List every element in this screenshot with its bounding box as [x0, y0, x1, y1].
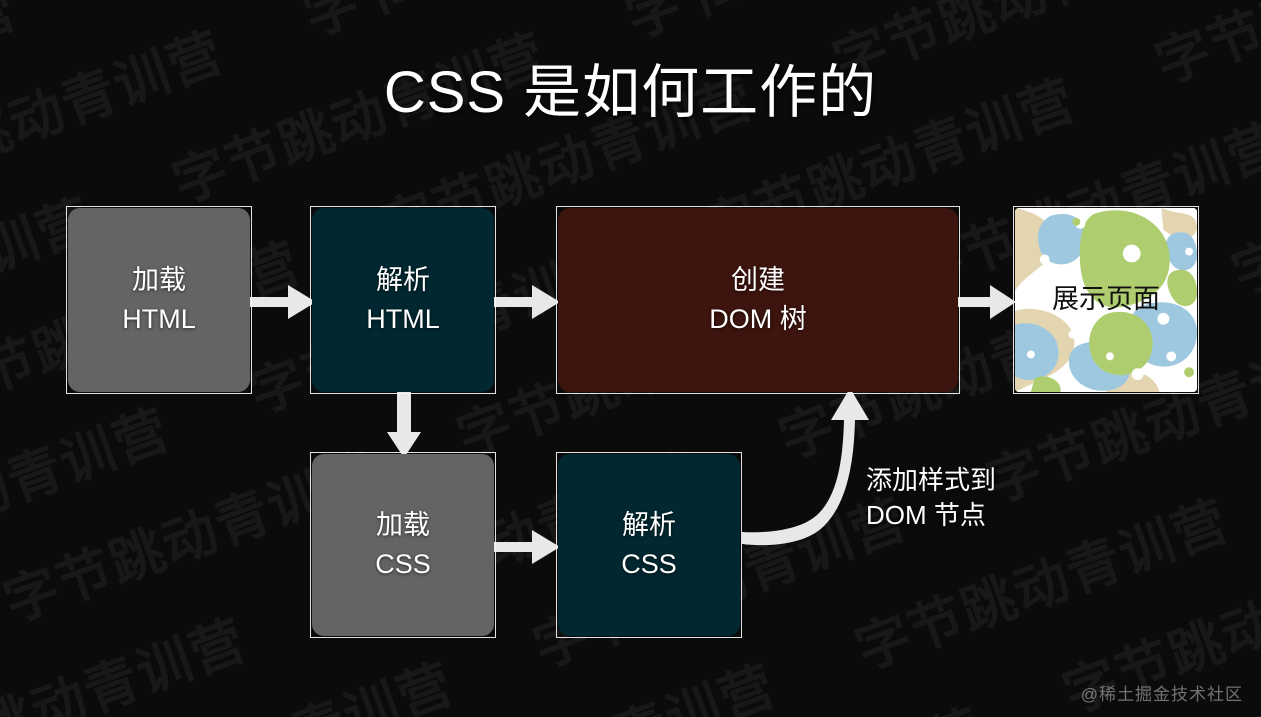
flow-node-parse-css[interactable]: 解析 CSS [556, 452, 742, 638]
watermark-text: 字节跳动青训营 [396, 658, 783, 717]
watermark-text: 字节跳动青训营 [0, 613, 254, 717]
flow-node-create-dom-tree[interactable]: 创建 DOM 树 [556, 206, 960, 394]
watermark-text: 字节跳动青训营 [604, 702, 991, 717]
watermark-text: 字节跳动青训营 [619, 0, 1006, 47]
flow-node-load-html[interactable]: 加载 HTML [66, 206, 252, 394]
watermark-text: 字节跳动青训营 [90, 0, 477, 1]
page-title: CSS 是如何工作的 [0, 45, 1261, 129]
connector-label-add-style-to-dom: 添加样式到 DOM 节点 [866, 463, 996, 533]
watermark-text: 字节跳动青训营 [1225, 118, 1261, 303]
flow-node-label: 创建 DOM 树 [709, 261, 807, 339]
watermark-text: 字节跳动青训营 [0, 402, 177, 587]
flow-node-label: 加载 CSS [375, 506, 431, 584]
arrow-parse-html-to-load-css [385, 390, 423, 460]
arrow-load-html-to-parse-html [248, 283, 318, 321]
watermark-text: 字节跳动青训营 [926, 704, 1261, 717]
flow-node-label: 展示页面 [1052, 280, 1160, 319]
arrow-parse-html-to-create-dom [492, 283, 562, 321]
credit-watermark: @稀土掘金技术社区 [1081, 680, 1243, 705]
flow-node-load-css[interactable]: 加载 CSS [310, 452, 496, 638]
flow-node-render-page[interactable]: 展示页面 [1013, 206, 1199, 394]
flow-node-parse-html[interactable]: 解析 HTML [310, 206, 496, 394]
watermark-text: 字节跳动青训营 [74, 656, 461, 717]
flow-node-label: 加载 HTML [122, 261, 196, 339]
flow-node-label: 解析 HTML [366, 261, 440, 339]
arrow-load-css-to-parse-css [492, 528, 562, 566]
slide-canvas: 字节跳动青训营 字节跳动青训营 字节跳动青训营 字节跳动青训营 字节跳动青训营 … [0, 0, 1261, 717]
flow-node-label: 解析 CSS [621, 506, 677, 584]
watermark-text: 字节跳动青训营 [297, 0, 684, 45]
arrow-create-dom-to-render-page [956, 283, 1018, 321]
